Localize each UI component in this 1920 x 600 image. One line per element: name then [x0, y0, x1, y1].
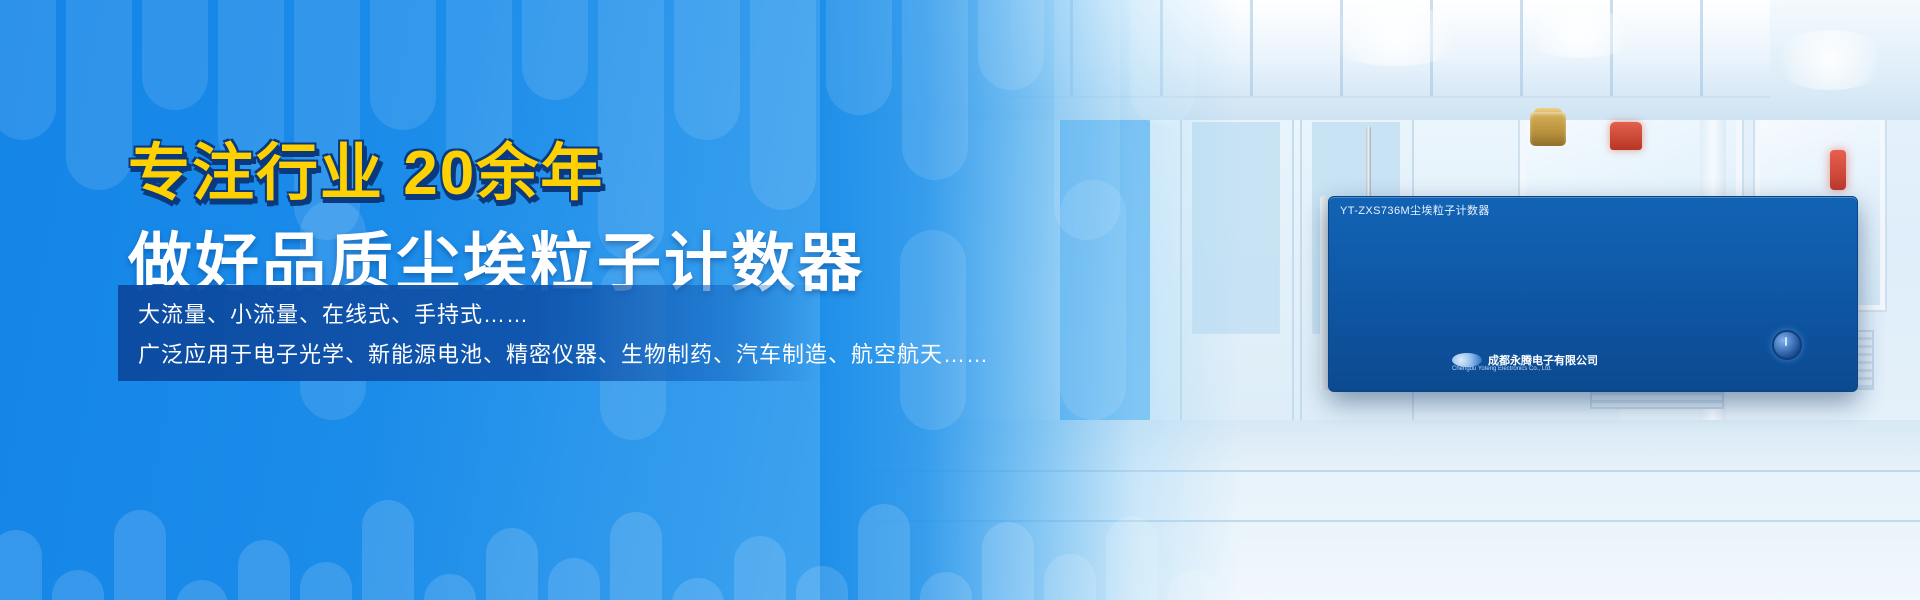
decorative-bar-pattern-bottom — [0, 450, 1240, 600]
subtitle-line-1: 大流量、小流量、在线式、手持式…… — [138, 297, 529, 329]
device-model-title: YT-ZXS736M尘埃粒子计数器 — [1340, 202, 1490, 218]
device-power-button[interactable] — [1772, 330, 1802, 360]
device-antenna — [1366, 126, 1371, 198]
corridor-indicator-light — [1830, 150, 1846, 190]
yoteng-logo-icon — [1452, 353, 1482, 367]
brand-name-en: Chengdu Yoteng Electronics Co., Ltd. — [1452, 366, 1552, 372]
subtitle-line-2: 广泛应用于电子光学、新能源电池、精密仪器、生物制药、汽车制造、航空航天…… — [138, 337, 989, 369]
headline-top: 专注行业 20余年 — [128, 122, 604, 212]
banner-stage: 专注行业 20余年 做好品质尘埃粒子计数器 大流量、小流量、在线式、手持式…… … — [0, 0, 1920, 600]
subtitle-band: 大流量、小流量、在线式、手持式…… 广泛应用于电子光学、新能源电池、精密仪器、生… — [118, 285, 818, 381]
device-alarm-beacon — [1610, 122, 1642, 150]
device-brass-connector — [1530, 112, 1566, 146]
